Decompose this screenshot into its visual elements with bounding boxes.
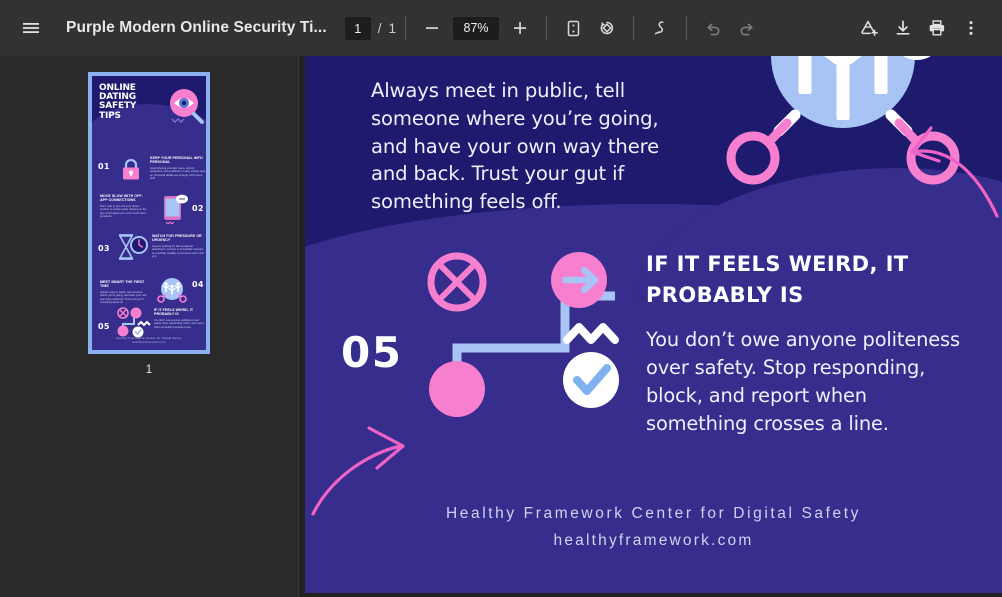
- annotate-button[interactable]: [643, 11, 677, 45]
- mini-section-05: IF IT FEELS WEIRD, IT PROBABLY IS You do…: [154, 308, 206, 329]
- hamburger-menu-button[interactable]: [14, 11, 48, 45]
- page-footer: Healthy Framework Center for Digital Saf…: [305, 501, 1002, 554]
- page-separator: /: [378, 21, 382, 36]
- top-paragraph: Always meet in public, tell someone wher…: [371, 77, 676, 216]
- download-icon: [893, 18, 913, 38]
- section-05-icon-cluster: [419, 252, 629, 422]
- zoom-controls: [415, 11, 537, 45]
- toolbar-divider-3: [633, 16, 634, 40]
- draw-annotate-icon: [650, 18, 670, 38]
- mini-section-04-number: 04: [192, 280, 204, 289]
- download-button[interactable]: [886, 11, 920, 45]
- undo-icon: [703, 18, 723, 38]
- mini-section-02-number: 02: [192, 204, 204, 213]
- section-body: You don’t owe anyone politeness over saf…: [646, 326, 968, 438]
- footer-line-1: Healthy Framework Center for Digital Saf…: [305, 501, 1002, 528]
- mini-section-01: KEEP YOUR PERSONAL INFO PERSONAL Avoid s…: [150, 156, 206, 181]
- zoom-level-input[interactable]: [453, 17, 499, 40]
- arrow-right-circle-icon: [551, 252, 607, 308]
- mini-title: ONLINEDATINGSAFETYTIPS: [99, 84, 136, 121]
- add-to-drive-icon: [859, 18, 880, 39]
- mini-section-03: WATCH FOR PRESSURE OR URGENCY Anyone pus…: [152, 234, 206, 259]
- cross-circle-icon: [431, 256, 483, 308]
- toolbar-divider-1: [405, 16, 406, 40]
- cut-off-circles-decoration: [890, 56, 1002, 66]
- page-navigation: / 1: [345, 17, 396, 40]
- mini-footer: Healthy Framework Center for Digital Saf…: [92, 336, 206, 344]
- mini-section-04: MEET SMART THE FIRST TIME Always meet in…: [100, 280, 148, 305]
- hourglass-clock-icon: [116, 232, 150, 264]
- flow-cluster-icon: [114, 304, 152, 340]
- document-title: Purple Modern Online Security Ti...: [66, 19, 327, 37]
- page-total: 1: [389, 21, 397, 36]
- mini-section-03-number: 03: [98, 244, 110, 253]
- undo-button[interactable]: [696, 11, 730, 45]
- thumbnail-item-1[interactable]: ONLINEDATINGSAFETYTIPS 01: [88, 72, 210, 376]
- fit-to-page-button[interactable]: [556, 11, 590, 45]
- curved-arrow-top-icon: [905, 120, 1002, 230]
- mini-section-05-number: 05: [98, 322, 110, 331]
- pink-dot-icon: [429, 361, 485, 417]
- section-number: 05: [341, 328, 402, 377]
- page-number-input[interactable]: [345, 17, 371, 40]
- zoom-out-button[interactable]: [415, 11, 449, 45]
- redo-button[interactable]: [730, 11, 764, 45]
- toolbar-divider-4: [686, 16, 687, 40]
- print-button[interactable]: [920, 11, 954, 45]
- section-heading: IF IT FEELS WEIRD, IT PROBABLY IS: [646, 249, 931, 310]
- print-icon: [927, 18, 947, 38]
- lock-icon: [118, 156, 144, 182]
- more-options-button[interactable]: [954, 11, 988, 45]
- document-viewport[interactable]: Always meet in public, tell someone wher…: [300, 56, 1002, 597]
- check-circle-icon: [563, 352, 619, 408]
- hamburger-menu-icon: [21, 18, 41, 38]
- toolbar-divider-2: [546, 16, 547, 40]
- people-group-icon: [156, 276, 188, 308]
- pdf-viewer-toolbar: Purple Modern Online Security Ti... / 1: [0, 0, 1002, 56]
- thumbnail-sidebar: ONLINEDATINGSAFETYTIPS 01: [0, 56, 299, 597]
- rotate-button[interactable]: [590, 11, 624, 45]
- thumbnail-preview[interactable]: ONLINEDATINGSAFETYTIPS 01: [88, 72, 210, 354]
- mini-section-02: MOVE SLOW WITH OFF-APP CONNECTIONS Don't…: [100, 194, 148, 219]
- mini-footer-line2: healthyframework.com: [92, 340, 206, 344]
- zigzag-icon: [567, 327, 615, 340]
- pdf-page-1: Always meet in public, tell someone wher…: [305, 56, 1002, 593]
- magnifier-eye-icon: [164, 86, 206, 130]
- more-options-icon: [962, 19, 980, 37]
- minus-icon: [423, 19, 441, 37]
- footer-line-2: healthyframework.com: [305, 528, 1002, 555]
- redo-icon: [737, 18, 757, 38]
- save-to-drive-button[interactable]: [852, 11, 886, 45]
- phone-chat-icon: [160, 192, 190, 224]
- thumbnail-page-number: 1: [88, 364, 210, 376]
- zoom-in-button[interactable]: [503, 11, 537, 45]
- mini-section-01-number: 01: [98, 162, 110, 171]
- rotate-icon: [597, 18, 617, 38]
- mini-infographic: ONLINEDATINGSAFETYTIPS 01: [92, 76, 206, 350]
- fit-to-page-icon: [564, 19, 583, 38]
- plus-icon: [511, 19, 529, 37]
